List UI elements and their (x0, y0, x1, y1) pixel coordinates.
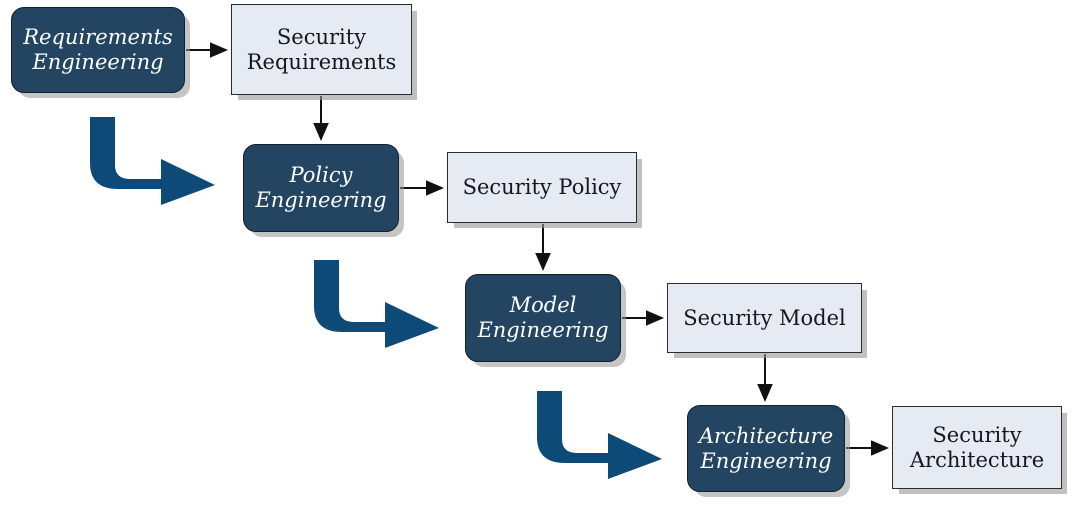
stage-arrow-model-engineering (314, 260, 439, 348)
curved-arrow-icon (90, 117, 215, 205)
node-label-security-requirements: Security Requirements (247, 25, 396, 75)
curved-arrow-icon (537, 391, 662, 479)
node-security-model[interactable]: Security Model (667, 283, 862, 353)
node-security-architecture[interactable]: Security Architecture (892, 406, 1062, 489)
curved-arrow-icon (314, 260, 439, 348)
stage-arrow-policy-engineering (90, 117, 215, 205)
node-model-engineering[interactable]: Model Engineering (465, 274, 621, 362)
node-label-model-engineering: Model Engineering (477, 293, 608, 343)
node-security-policy[interactable]: Security Policy (447, 152, 637, 223)
node-policy-engineering[interactable]: Policy Engineering (243, 144, 399, 232)
node-architecture-engineering[interactable]: Architecture Engineering (687, 405, 845, 492)
node-label-security-architecture: Security Architecture (910, 423, 1044, 473)
diagram-canvas: Requirements EngineeringSecurity Require… (0, 0, 1075, 505)
node-security-requirements[interactable]: Security Requirements (231, 4, 412, 95)
node-label-security-policy: Security Policy (463, 175, 622, 200)
node-label-security-model: Security Model (683, 306, 846, 331)
node-requirements-engineering[interactable]: Requirements Engineering (11, 7, 185, 93)
node-label-requirements-engineering: Requirements Engineering (23, 25, 172, 75)
node-label-policy-engineering: Policy Engineering (255, 163, 386, 213)
stage-arrow-architecture-engineering (537, 391, 662, 479)
node-label-architecture-engineering: Architecture Engineering (699, 424, 833, 474)
